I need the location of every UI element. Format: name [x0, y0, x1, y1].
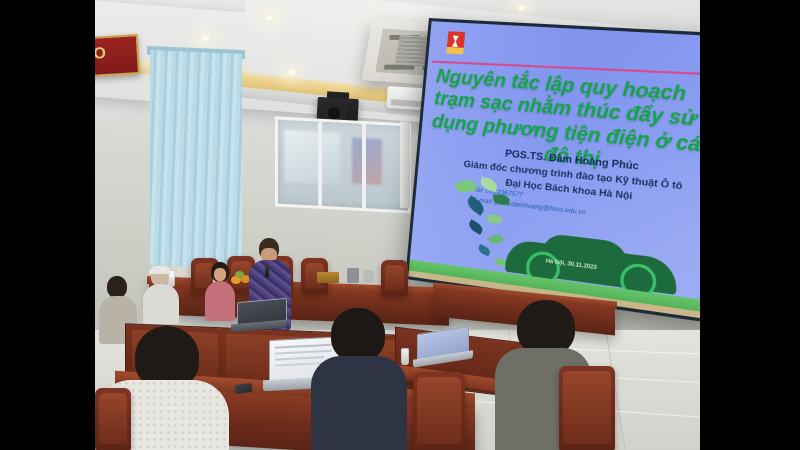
downlight-icon — [515, 4, 528, 13]
red-wall-banner: ĐO — [95, 34, 140, 78]
downlight-icon — [285, 68, 298, 77]
window-curtain — [150, 50, 242, 269]
letterbox-bar-left — [0, 0, 95, 450]
flask — [347, 268, 359, 283]
glass-window — [275, 116, 411, 213]
attendee-front-right — [307, 308, 403, 450]
photo-frame: ĐO Nguyên tắc lập quy hoạch trạm sạc nhằ… — [95, 0, 700, 450]
letterbox-bar-right — [700, 0, 800, 450]
downlight-icon — [263, 14, 276, 23]
name-plaque — [317, 272, 339, 283]
chair-foreground — [95, 388, 131, 450]
cap-icon — [149, 266, 171, 274]
attendee-with-cap — [143, 266, 179, 322]
laptop-right — [413, 330, 473, 368]
flask — [363, 270, 374, 283]
downlight-icon — [199, 34, 212, 43]
screenshot-root: ĐO Nguyên tắc lập quy hoạch trạm sạc nhằ… — [0, 0, 800, 450]
projection-screen: Nguyên tắc lập quy hoạch trạm sạc nhằm t… — [405, 18, 700, 324]
slide-surface: Nguyên tắc lập quy hoạch trạm sạc nhằm t… — [408, 21, 700, 320]
microphone — [265, 264, 269, 278]
laptop-presenter — [231, 300, 287, 334]
banner-text: ĐO — [95, 45, 107, 65]
hust-logo-icon — [446, 31, 465, 54]
chair-foreground — [559, 366, 615, 450]
chair-foreground — [413, 372, 465, 450]
fruit — [235, 271, 244, 278]
glass-door-leaf — [400, 122, 410, 209]
chair — [381, 260, 408, 296]
